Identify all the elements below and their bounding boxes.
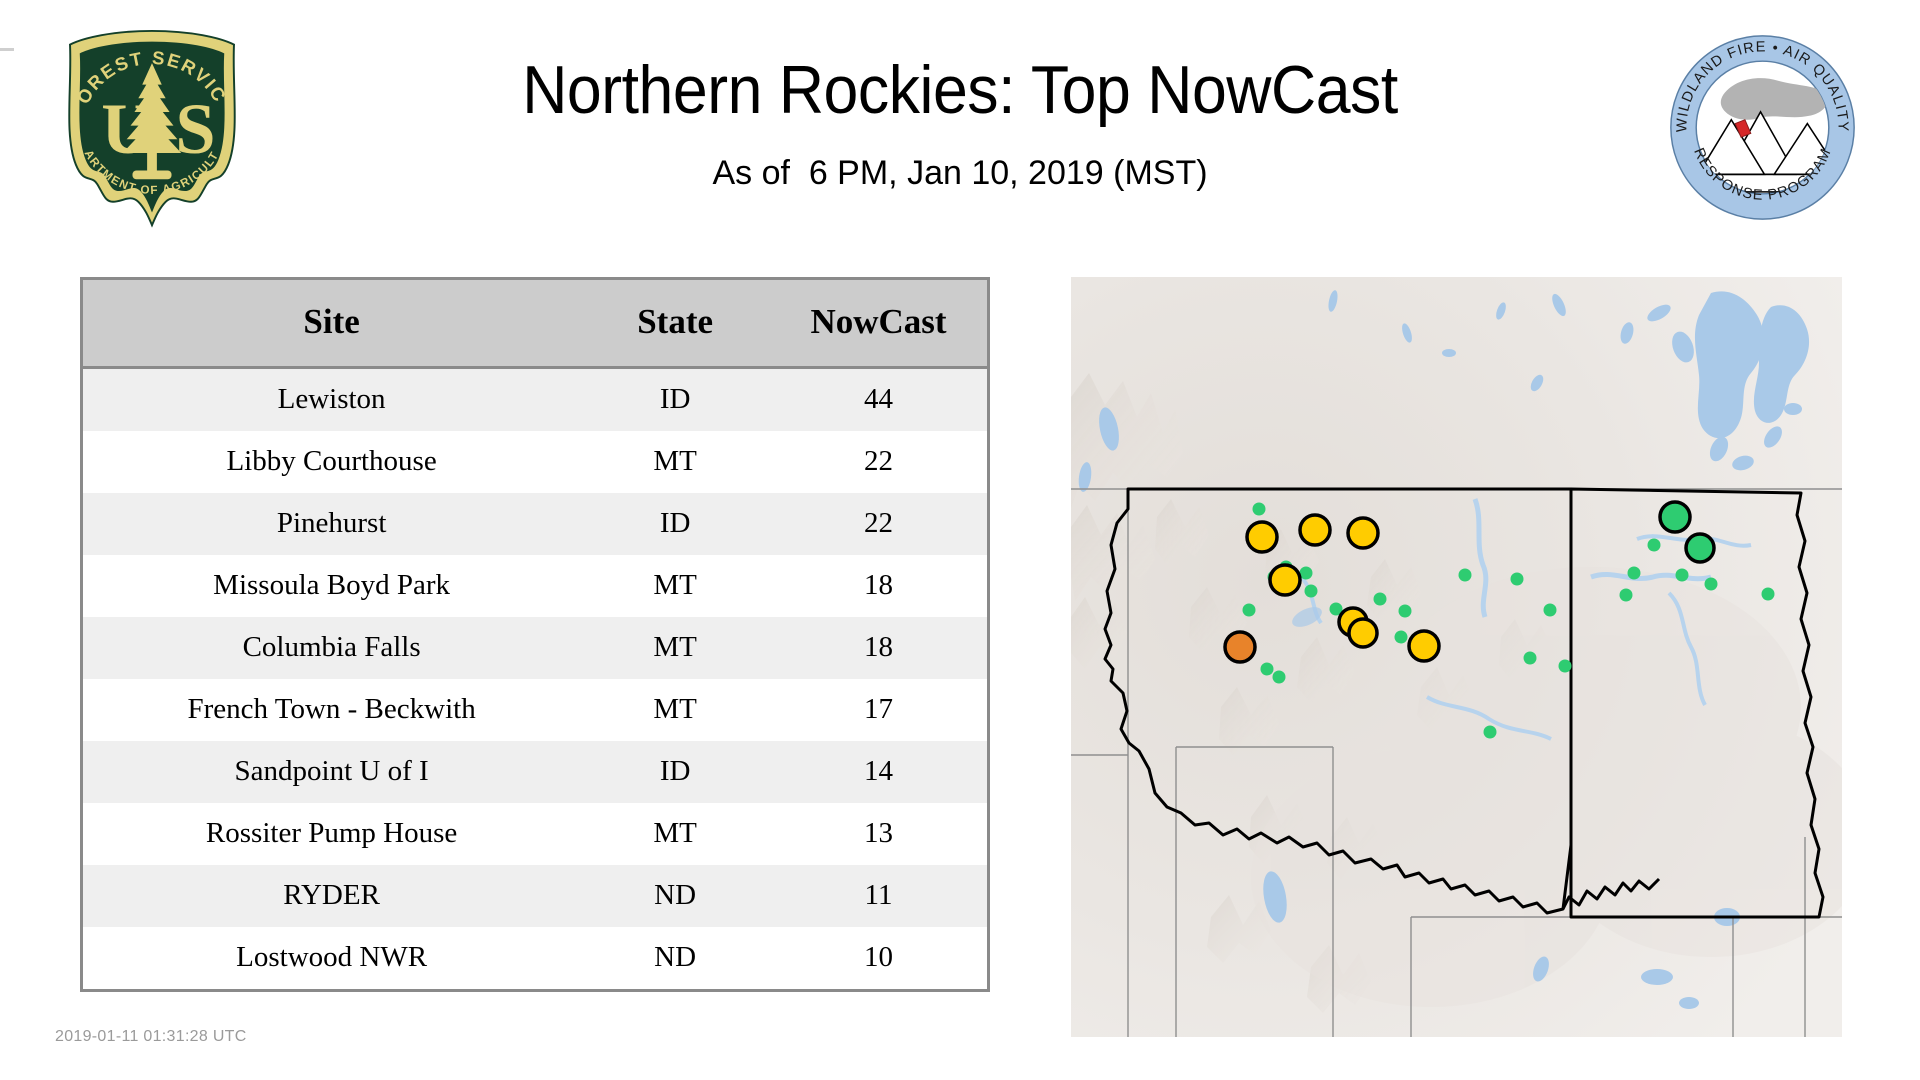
cell-state: MT [580,679,770,741]
map-marker-site[interactable]: Sandpoint U of I [1247,522,1277,552]
cell-site: RYDER [83,865,580,927]
cell-site: Missoula Boyd Park [83,555,580,617]
map-marker-good[interactable] [1559,660,1572,673]
cell-site: French Town - Beckwith [83,679,580,741]
cell-state: MT [580,431,770,493]
wfaqrp-logo: WILDLAND FIRE • AIR QUALITY RESPONSE PRO… [1665,30,1860,225]
cell-site: Sandpoint U of I [83,741,580,803]
column-header-nowcast[interactable]: NowCast [770,280,987,368]
column-header-state[interactable]: State [580,280,770,368]
cell-state: ND [580,865,770,927]
nowcast-table-container: Site State NowCast LewistonID44Libby Cou… [80,277,990,992]
map-marker-good[interactable] [1395,631,1408,644]
map-marker-good[interactable] [1620,589,1633,602]
cell-nowcast: 11 [770,865,987,927]
map-marker-good[interactable] [1253,503,1266,516]
map-marker-good[interactable] [1648,539,1661,552]
cell-site: Pinehurst [83,493,580,555]
corner-tick-mark [0,48,14,51]
table-header: Site State NowCast [83,280,987,368]
page-subtitle: As of 6 PM, Jan 10, 2019 (MST) [300,155,1620,192]
cell-state: MT [580,555,770,617]
cell-nowcast: 22 [770,493,987,555]
map-marker-site[interactable]: Libby Courthouse [1300,515,1330,545]
map-marker-good[interactable] [1459,569,1472,582]
nowcast-table: Site State NowCast LewistonID44Libby Cou… [83,280,987,989]
table-row[interactable]: Columbia FallsMT18 [83,617,987,679]
forest-service-logo: U S FOREST SERVICE DEPARTMENT OF AGRICUL… [52,28,252,233]
cell-site: Lostwood NWR [83,927,580,989]
map-marker-good[interactable] [1544,604,1557,617]
map-marker-good[interactable] [1273,671,1286,684]
map-marker-good[interactable] [1676,569,1689,582]
table-row[interactable]: RYDERND11 [83,865,987,927]
column-header-site[interactable]: Site [83,280,580,368]
map-marker-site[interactable]: French Town - Beckwith [1349,619,1377,647]
table-row[interactable]: Rossiter Pump HouseMT13 [83,803,987,865]
cell-site: Libby Courthouse [83,431,580,493]
map-marker-site[interactable]: Pinehurst [1270,565,1300,595]
cell-nowcast: 44 [770,368,987,432]
table-row[interactable]: Lostwood NWRND10 [83,927,987,989]
table-row[interactable]: Libby CourthouseMT22 [83,431,987,493]
table-row[interactable]: Missoula Boyd ParkMT18 [83,555,987,617]
table-body: LewistonID44Libby CourthouseMT22Pinehurs… [83,368,987,990]
cell-nowcast: 17 [770,679,987,741]
map-marker-good[interactable] [1705,578,1718,591]
cell-state: ND [580,927,770,989]
aqi-map[interactable]: Sandpoint U of ILibby CourthouseColumbia… [1071,277,1842,1037]
map-marker-site[interactable]: RYDER [1660,502,1690,532]
cell-nowcast: 13 [770,803,987,865]
cell-nowcast: 18 [770,555,987,617]
cell-nowcast: 10 [770,927,987,989]
cell-state: ID [580,368,770,432]
map-marker-good[interactable] [1762,588,1775,601]
cell-site: Rossiter Pump House [83,803,580,865]
table-row[interactable]: LewistonID44 [83,368,987,432]
map-marker-good[interactable] [1374,593,1387,606]
map-marker-good[interactable] [1399,605,1412,618]
cell-nowcast: 14 [770,741,987,803]
map-marker-site[interactable]: Missoula Boyd Park [1409,631,1439,661]
map-marker-good[interactable] [1243,604,1256,617]
map-marker-good[interactable] [1305,585,1318,598]
map-marker-good[interactable] [1484,726,1497,739]
page-title: Northern Rockies: Top NowCast [353,56,1567,124]
cell-nowcast: 22 [770,431,987,493]
map-marker-good[interactable] [1524,652,1537,665]
cell-nowcast: 18 [770,617,987,679]
table-row[interactable]: Sandpoint U of IID14 [83,741,987,803]
table-row[interactable]: PinehurstID22 [83,493,987,555]
map-marker-good[interactable] [1628,567,1641,580]
map-marker-site[interactable]: Lostwood NWR [1686,534,1714,562]
table-header-row: Site State NowCast [83,280,987,368]
footer-timestamp: 2019-01-11 01:31:28 UTC [55,1028,247,1046]
cell-site: Columbia Falls [83,617,580,679]
cell-state: MT [580,803,770,865]
cell-state: MT [580,617,770,679]
cell-site: Lewiston [83,368,580,432]
table-row[interactable]: French Town - BeckwithMT17 [83,679,987,741]
map-marker-good[interactable] [1511,573,1524,586]
map-marker-site[interactable]: Columbia Falls [1348,518,1378,548]
cell-state: ID [580,493,770,555]
map-marker-good[interactable] [1261,663,1274,676]
cell-state: ID [580,741,770,803]
map-marker-site[interactable]: Lewiston [1225,632,1255,662]
